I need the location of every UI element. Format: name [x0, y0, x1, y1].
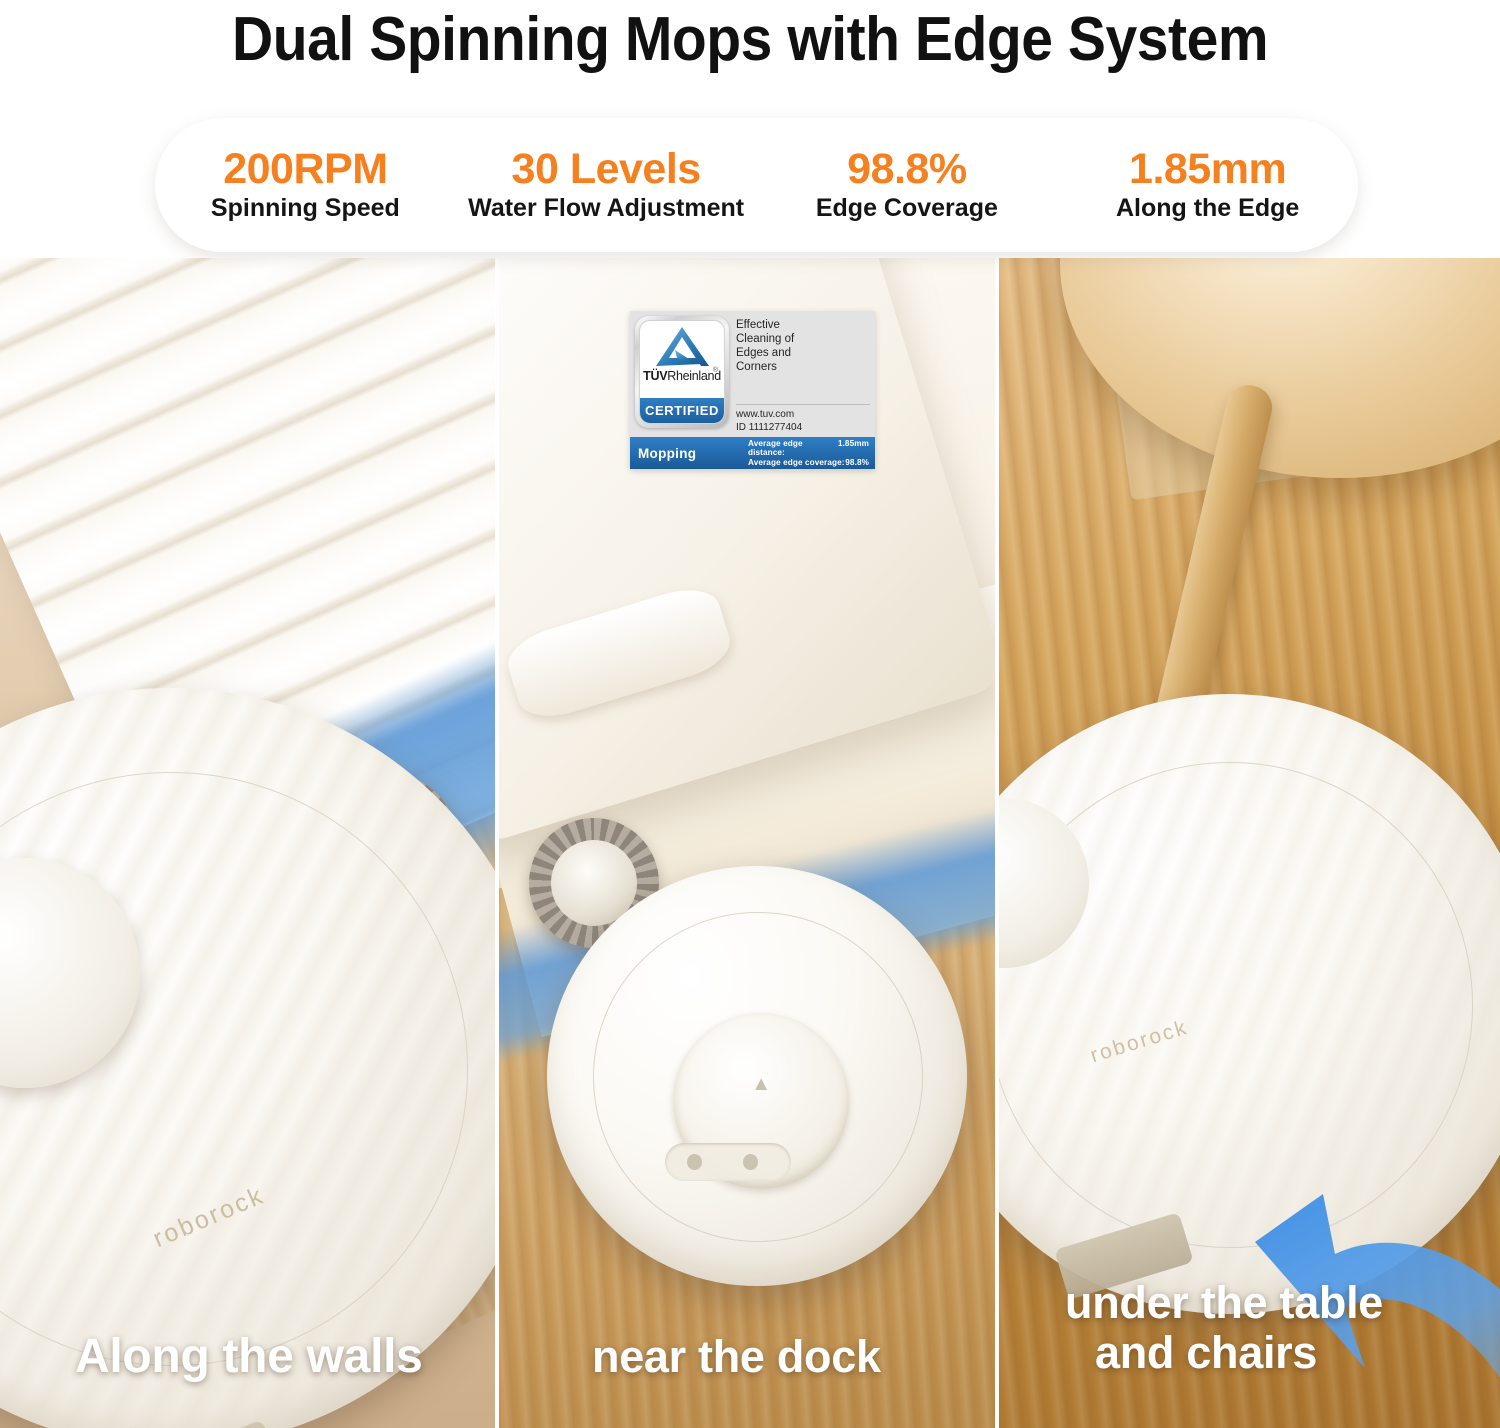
caption-under-the-table: under the table and chairs	[1065, 1278, 1383, 1379]
tuv-rheinland-certification-badge: TÜVRheinland ® CERTIFIED Effective Clean…	[630, 311, 875, 469]
caption-line-2: and chairs	[1095, 1328, 1383, 1378]
stat-value: 98.8%	[847, 147, 966, 192]
stat-value: 1.85mm	[1129, 147, 1286, 192]
footer-category-label: Mopping	[638, 446, 742, 461]
stat-spinning-speed: 200RPM Spinning Speed	[155, 147, 456, 223]
badge-upper: TÜVRheinland ® CERTIFIED Effective Clean…	[630, 311, 875, 437]
tuv-triangle-icon	[653, 325, 711, 367]
stat-label: Water Flow Adjustment	[468, 194, 744, 223]
caption-along-the-walls: Along the walls	[75, 1330, 423, 1384]
footer-metric-row: Average edge distance: 1.85mm	[748, 439, 869, 457]
footer-metric-rows: Average edge distance: 1.85mm Average ed…	[748, 439, 869, 467]
certification-meta: www.tuv.com ID 1111277404	[736, 404, 870, 434]
headline-container: Dual Spinning Mops with Edge System	[0, 0, 1500, 80]
tuv-logo-plate: TÜVRheinland ® CERTIFIED	[635, 316, 729, 428]
claim-line: Effective	[736, 318, 870, 332]
caption-line-1: under the table	[1065, 1278, 1383, 1328]
metric-key: Average edge coverage:	[748, 458, 845, 467]
metric-value: 98.8%	[845, 458, 869, 467]
tuv-mark-text: TÜV	[643, 369, 667, 383]
certified-banner: CERTIFIED	[640, 398, 724, 423]
claim-line: Edges and	[736, 346, 870, 360]
claim-line: Corners	[736, 360, 870, 374]
badge-footer: Mopping Average edge distance: 1.85mm Av…	[630, 437, 875, 469]
tuv-logo-inner: TÜVRheinland ® CERTIFIED	[639, 320, 725, 424]
robot-indicator-lights	[665, 1143, 791, 1181]
indicator-dot	[743, 1154, 758, 1170]
photo-panel-along-the-walls: roborock	[0, 258, 495, 1428]
photo-panel-under-the-table: roborock	[995, 258, 1500, 1428]
tuv-website: www.tuv.com	[736, 408, 870, 421]
claim-line: Cleaning of	[736, 332, 870, 346]
tuv-certificate-id: ID 1111277404	[736, 421, 870, 434]
spec-highlight-card: 200RPM Spinning Speed 30 Levels Water Fl…	[155, 118, 1358, 252]
stat-value: 200RPM	[223, 147, 387, 192]
stat-value: 30 Levels	[512, 147, 701, 192]
stat-label: Edge Coverage	[816, 194, 998, 223]
certification-claim: Effective Cleaning of Edges and Corners	[736, 318, 870, 374]
stat-label: Spinning Speed	[211, 194, 400, 223]
stat-along-the-edge: 1.85mm Along the Edge	[1057, 147, 1358, 223]
metric-value: 1.85mm	[838, 439, 869, 457]
stat-edge-coverage: 98.8% Edge Coverage	[757, 147, 1058, 223]
stat-water-flow: 30 Levels Water Flow Adjustment	[456, 147, 757, 223]
metric-key: Average edge distance:	[748, 439, 838, 457]
page-title: Dual Spinning Mops with Edge System	[232, 9, 1268, 71]
stat-label: Along the Edge	[1116, 194, 1299, 223]
footer-metric-row: Average edge coverage: 98.8%	[748, 458, 869, 467]
indicator-dot	[687, 1154, 702, 1170]
badge-text-column: Effective Cleaning of Edges and Corners …	[736, 316, 870, 434]
robot-vacuum	[547, 866, 967, 1286]
caption-near-the-dock: near the dock	[592, 1332, 881, 1382]
registered-trademark-icon: ®	[713, 367, 718, 374]
tuv-wordmark: TÜVRheinland	[643, 369, 721, 383]
